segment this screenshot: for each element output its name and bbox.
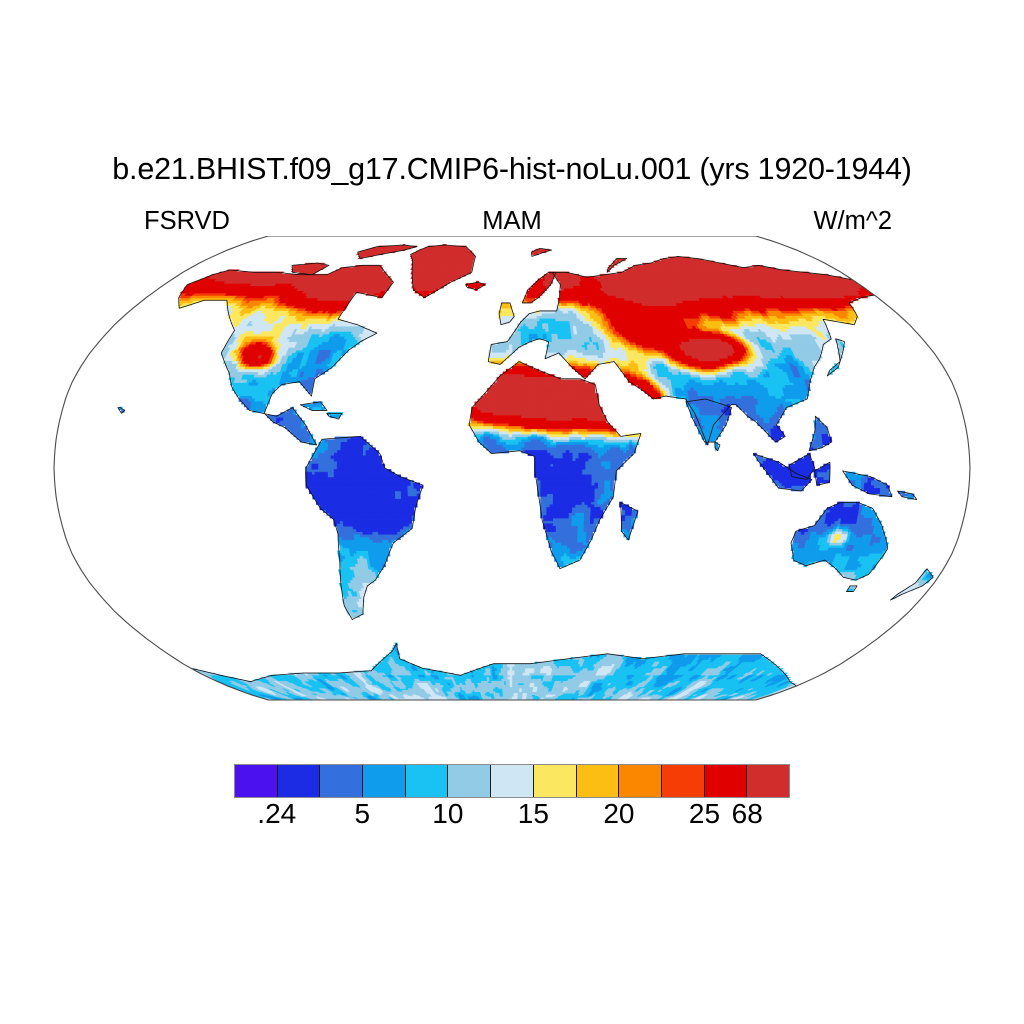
figure-title: b.e21.BHIST.f09_g17.CMIP6-hist-noLu.001 … <box>0 154 1024 185</box>
colorbar-tick-label: 15 <box>518 800 549 828</box>
colorbar-cell <box>363 765 406 797</box>
colorbar-tick-label: 68 <box>732 800 763 828</box>
figure-canvas: b.e21.BHIST.f09_g17.CMIP6-hist-noLu.001 … <box>0 0 1024 1024</box>
colorbar <box>234 764 790 798</box>
colorbar-cell <box>278 765 321 797</box>
colorbar-cell <box>491 765 534 797</box>
colorbar-tick-label: 10 <box>432 800 463 828</box>
colorbar-cell <box>577 765 620 797</box>
colorbar-cell <box>747 765 789 797</box>
map-panel <box>0 236 1024 736</box>
colorbar-cell <box>619 765 662 797</box>
colorbar-tick-label: 5 <box>355 800 371 828</box>
colorbar-cell <box>406 765 449 797</box>
colorbar-cell <box>534 765 577 797</box>
data-field-layer <box>119 244 934 700</box>
colorbar-tick-label: 25 <box>689 800 720 828</box>
units-label: W/m^2 <box>813 209 892 235</box>
colorbar-labels: .2451015202568 <box>0 800 1024 840</box>
colorbar-cell <box>448 765 491 797</box>
colorbar-cell <box>662 765 705 797</box>
colorbar-tick-label: 20 <box>603 800 634 828</box>
world-map <box>0 236 1024 736</box>
colorbar-cell <box>235 765 278 797</box>
colorbar-tick-label: .24 <box>257 800 296 828</box>
colorbar-cell <box>705 765 748 797</box>
subtitle-row: FSRVD MAM W/m^2 <box>0 209 1024 239</box>
colorbar-cell <box>320 765 363 797</box>
